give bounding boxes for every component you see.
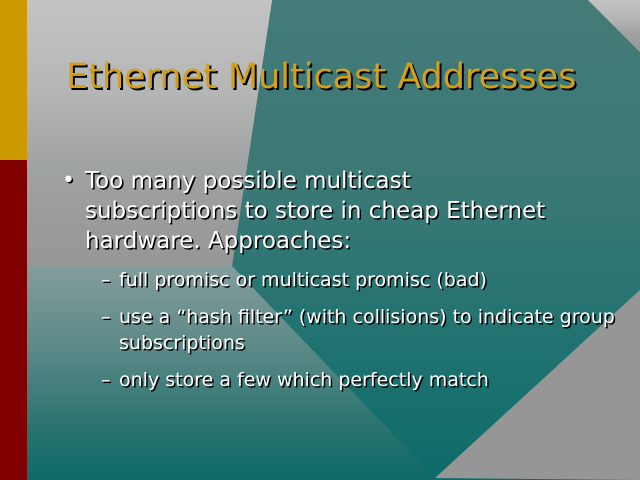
bullet-text: full promisc or multicast promisc (bad) bbox=[119, 267, 619, 293]
accent-bar-red bbox=[0, 160, 27, 480]
presentation-slide: Ethernet Multicast Addresses • Too many … bbox=[0, 0, 640, 480]
bullet-text: only store a few which perfectly match bbox=[119, 367, 619, 393]
bullet-marker-dash: – bbox=[101, 304, 119, 330]
bullet-item-level2: – only store a few which perfectly match bbox=[101, 367, 622, 393]
bullet-item-level2: – use a “hash filter” (with collisions) … bbox=[101, 304, 622, 356]
bullet-marker-dot: • bbox=[62, 166, 85, 196]
accent-bar-gold bbox=[0, 0, 27, 160]
bullet-item-level2: – full promisc or multicast promisc (bad… bbox=[101, 267, 622, 293]
slide-body: • Too many possible multicast subscripti… bbox=[62, 166, 622, 393]
bullet-marker-dash: – bbox=[101, 267, 119, 293]
bullet-item-level1: • Too many possible multicast subscripti… bbox=[62, 166, 622, 256]
bullet-text: use a “hash filter” (with collisions) to… bbox=[119, 304, 619, 356]
bullet-text: Too many possible multicast subscription… bbox=[85, 166, 565, 256]
slide-title: Ethernet Multicast Addresses bbox=[66, 56, 606, 98]
bullet-marker-dash: – bbox=[101, 367, 119, 393]
